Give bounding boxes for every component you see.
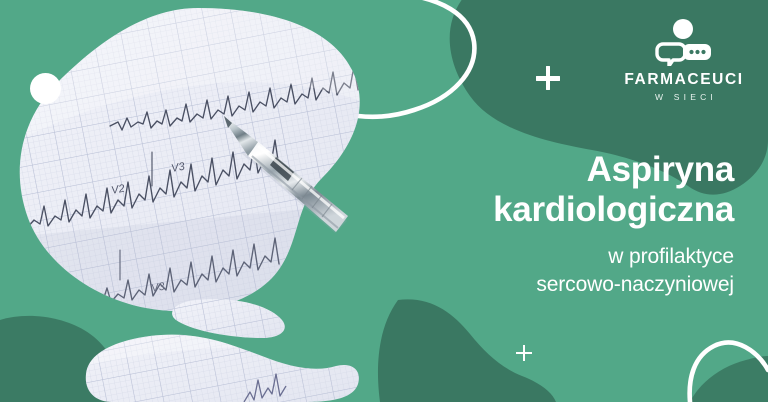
title-line-1: Aspiryna	[587, 150, 734, 189]
person-speech-bubbles-icon	[653, 18, 715, 66]
promo-banner: V3 V2 V3	[0, 0, 768, 402]
white-circle-dot	[30, 73, 61, 104]
brand-tagline: W SIECI	[651, 93, 717, 102]
subtitle-line-2: sercowo-naczyniowej	[314, 271, 734, 299]
svg-text:V2: V2	[110, 183, 126, 197]
subtitle-line-1: w profilaktyce	[608, 245, 734, 268]
brand-logo[interactable]: FARMACEUCI W SIECI	[614, 18, 754, 101]
headline-block: Aspiryna kardiologiczna w profilaktyce s…	[314, 150, 734, 299]
brand-name: FARMACEUCI	[624, 72, 743, 88]
page-subtitle: w profilaktyce sercowo-naczyniowej	[314, 243, 734, 298]
title-line-2: kardiologiczna	[314, 190, 734, 230]
plus-mark-small	[516, 345, 532, 361]
page-title: Aspiryna kardiologiczna	[314, 150, 734, 229]
plus-mark-large	[536, 66, 560, 90]
